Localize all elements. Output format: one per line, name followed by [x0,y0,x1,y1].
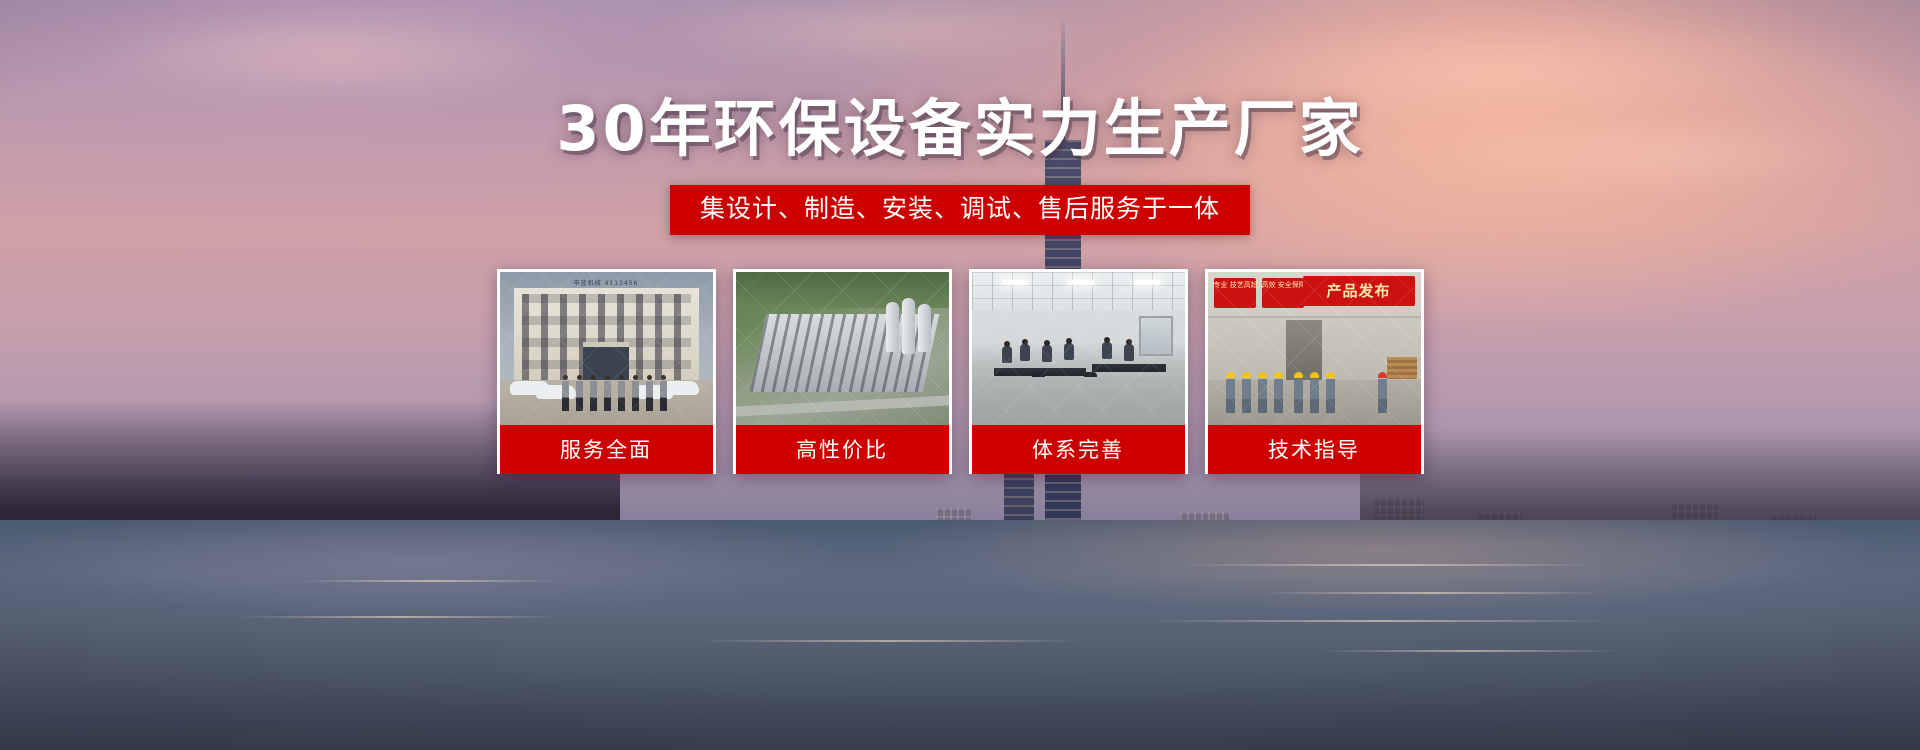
card-photo-headquarters: 申蓝机械 4113456 [500,272,713,425]
card-photo-office [972,272,1185,425]
feature-card[interactable]: 体系完善 [969,269,1188,474]
photo-banner-text: 产品发布 [1307,280,1411,301]
card-label: 高性价比 [736,425,949,474]
hero-banner: 30年环保设备实力生产厂家 集设计、制造、安装、调试、售后服务于一体 申蓝机械 … [0,0,1920,750]
card-label: 技术指导 [1208,425,1421,474]
card-photo-workshop: 专业 技艺高超 高效 安全保障 产品发布 [1208,272,1421,425]
banner-content: 30年环保设备实力生产厂家 集设计、制造、安装、调试、售后服务于一体 申蓝机械 … [0,0,1920,750]
photo-strip-text: 高效 安全保障 [1262,281,1304,290]
subtitle-text: 集设计、制造、安装、调试、售后服务于一体 [700,195,1220,223]
feature-card[interactable]: 申蓝机械 4113456 服务全面 [497,269,716,474]
subtitle-banner: 集设计、制造、安装、调试、售后服务于一体 [670,185,1250,235]
card-label: 体系完善 [972,425,1185,474]
card-label: 服务全面 [500,425,713,474]
photo-strip-text: 专业 技艺高超 [1214,281,1256,290]
photo-overlay-text: 申蓝机械 4113456 [574,278,639,287]
feature-card-list: 申蓝机械 4113456 服务全面 [497,269,1424,474]
feature-card[interactable]: 高性价比 [733,269,952,474]
feature-card[interactable]: 专业 技艺高超 高效 安全保障 产品发布 [1205,269,1424,474]
banner-headline: 30年环保设备实力生产厂家 [556,98,1363,160]
card-photo-factory [736,272,949,425]
